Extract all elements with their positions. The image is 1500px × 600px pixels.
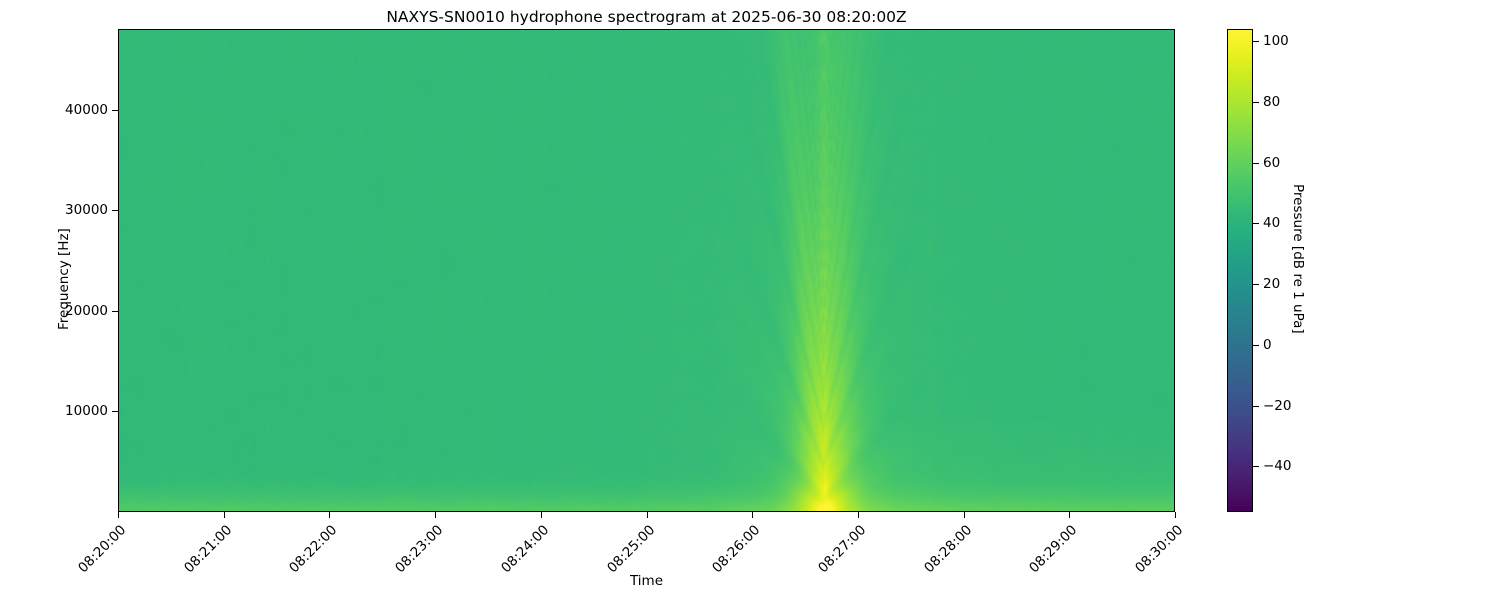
x-tick-label: 08:21:00 [177,522,235,580]
x-axis-label: Time [118,573,1175,589]
y-tick-mark [112,110,118,111]
colorbar-tick-mark [1253,466,1259,467]
colorbar-tick-mark [1253,102,1259,103]
x-tick-mark [1069,512,1070,518]
colorbar-tick-mark [1253,41,1259,42]
x-tick-mark [329,512,330,518]
colorbar-tick-mark [1253,284,1259,285]
x-tick-mark [858,512,859,518]
x-tick-label: 08:25:00 [600,522,658,580]
x-tick-mark [752,512,753,518]
x-tick-label: 08:27:00 [811,522,869,580]
y-tick-mark [112,210,118,211]
colorbar[interactable] [1227,29,1253,512]
x-tick-label: 08:22:00 [283,522,341,580]
colorbar-gradient [1228,30,1253,512]
x-tick-label: 08:23:00 [388,522,446,580]
x-tick-label: 08:24:00 [494,522,552,580]
colorbar-tick-label: 0 [1263,337,1272,353]
x-tick-label: 08:26:00 [706,522,764,580]
colorbar-tick-label: −40 [1263,458,1292,474]
y-tick-label: 40000 [65,102,108,118]
x-tick-mark [224,512,225,518]
colorbar-tick-label: 20 [1263,276,1280,292]
colorbar-tick-label: 40 [1263,215,1280,231]
y-tick-label: 30000 [65,202,108,218]
colorbar-tick-label: −20 [1263,398,1292,414]
x-tick-label: 08:28:00 [917,522,975,580]
x-tick-mark [435,512,436,518]
y-tick-label: 20000 [65,303,108,319]
colorbar-tick-mark [1253,163,1259,164]
y-tick-mark [112,311,118,312]
y-tick-mark [112,411,118,412]
x-tick-label: 08:29:00 [1023,522,1081,580]
colorbar-tick-label: 100 [1263,33,1289,49]
colorbar-tick-mark [1253,345,1259,346]
figure-title: NAXYS-SN0010 hydrophone spectrogram at 2… [0,8,1293,26]
colorbar-tick-label: 80 [1263,94,1280,110]
colorbar-tick-label: 60 [1263,155,1280,171]
colorbar-tick-mark [1253,406,1259,407]
x-tick-mark [647,512,648,518]
spectrogram-image [119,30,1175,512]
x-tick-label: 08:30:00 [1128,522,1186,580]
x-tick-mark [964,512,965,518]
colorbar-tick-mark [1253,223,1259,224]
x-tick-label: 08:20:00 [71,522,129,580]
spectrogram-plot-area[interactable] [118,29,1175,512]
x-tick-mark [1175,512,1176,518]
spectrogram-figure: NAXYS-SN0010 hydrophone spectrogram at 2… [0,0,1500,600]
x-tick-mark [118,512,119,518]
colorbar-label: Pressure [dB re 1 uPa] [1290,184,1306,334]
x-tick-mark [541,512,542,518]
y-tick-label: 10000 [65,403,108,419]
